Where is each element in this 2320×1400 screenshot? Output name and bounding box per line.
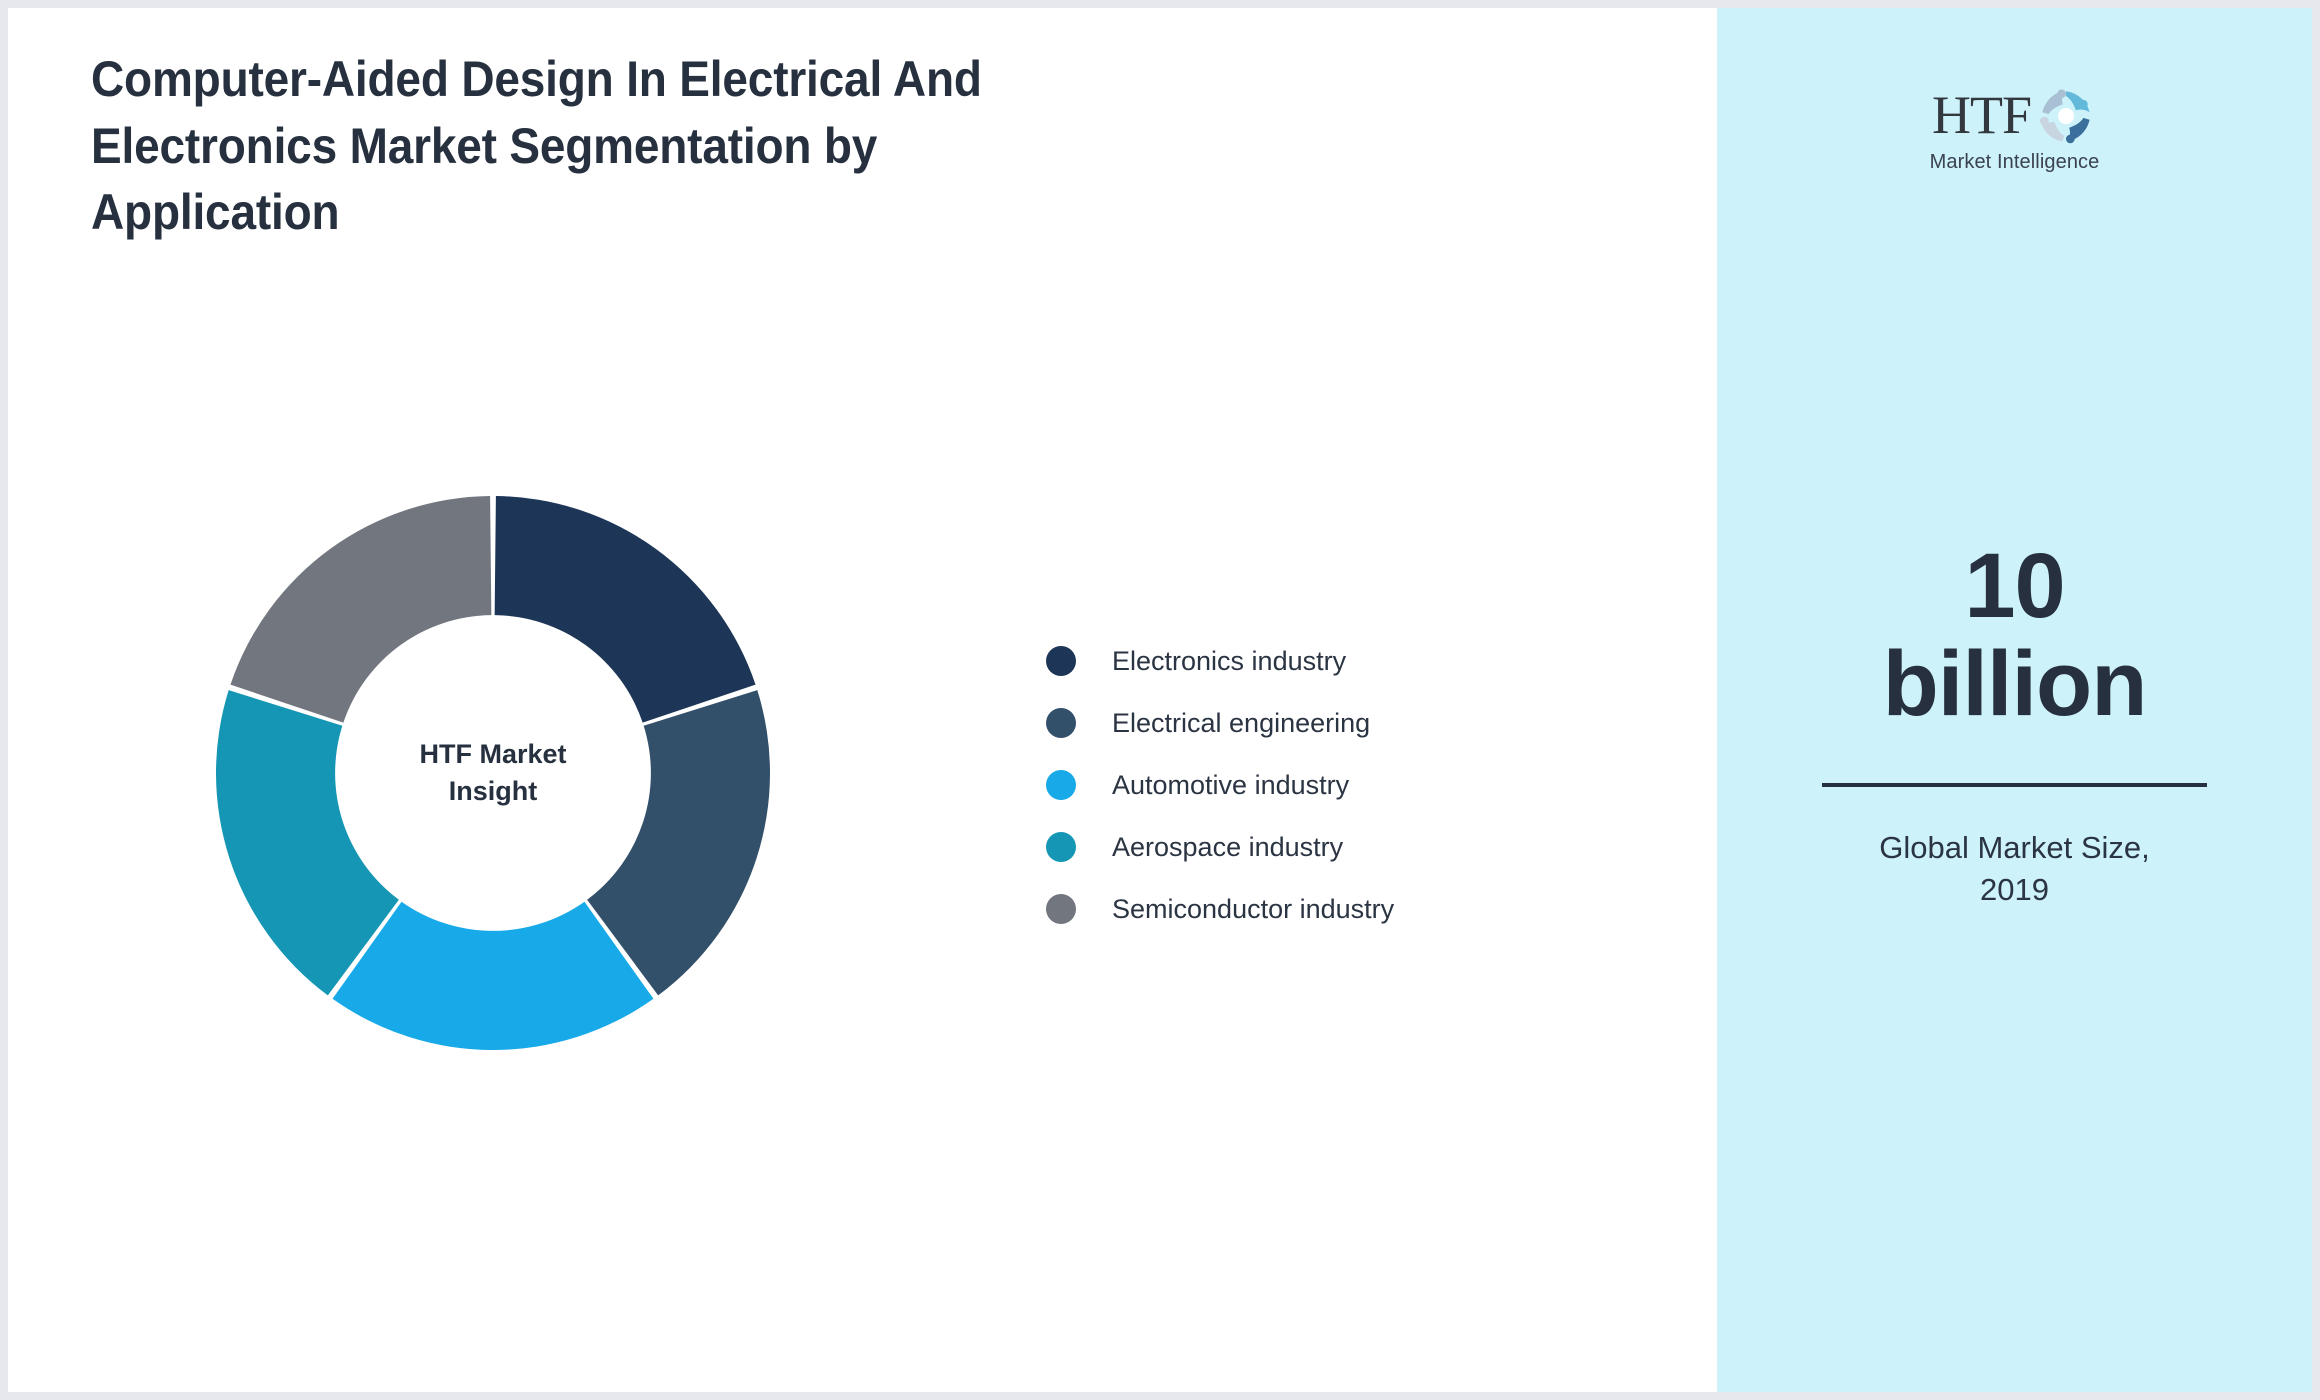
chart-legend: Electronics industryElectrical engineeri… [1046, 630, 1394, 940]
legend-swatch-icon [1046, 832, 1076, 862]
legend-item[interactable]: Aerospace industry [1046, 816, 1394, 878]
three-figure-circle-logo-icon [2035, 85, 2097, 147]
stat-caption: Global Market Size, 2019 [1775, 827, 2255, 911]
brand-logo: HTF Market Intelligence [1890, 83, 2140, 174]
legend-item-label: Automotive industry [1112, 770, 1349, 801]
stat-divider [1822, 783, 2207, 787]
brand-logo-row: HTF [1932, 83, 2097, 147]
stat-value: 10 billion [1775, 538, 2255, 733]
infographic-card: Computer-Aided Design In Electrical And … [8, 8, 2312, 1392]
donut-chart-svg [216, 496, 770, 1050]
page-title: Computer-Aided Design In Electrical And … [91, 46, 1011, 246]
brand-name: HTF [1932, 88, 2031, 142]
legend-item-label: Semiconductor industry [1112, 894, 1394, 925]
market-size-stat: 10 billion Global Market Size, 2019 [1775, 538, 2255, 911]
legend-item[interactable]: Semiconductor industry [1046, 878, 1394, 940]
legend-swatch-icon [1046, 894, 1076, 924]
main-panel: Computer-Aided Design In Electrical And … [8, 8, 1717, 1392]
brand-tagline: Market Intelligence [1930, 151, 2100, 174]
legend-swatch-icon [1046, 708, 1076, 738]
legend-item-label: Electronics industry [1112, 646, 1346, 677]
legend-item[interactable]: Electronics industry [1046, 630, 1394, 692]
donut-chart: HTF Market Insight [216, 496, 770, 1050]
stat-panel: HTF Market Intelligence 10 billion Globa [1717, 8, 2312, 1392]
donut-slice[interactable] [495, 496, 756, 723]
legend-swatch-icon [1046, 646, 1076, 676]
legend-swatch-icon [1046, 770, 1076, 800]
legend-item[interactable]: Automotive industry [1046, 754, 1394, 816]
legend-item[interactable]: Electrical engineering [1046, 692, 1394, 754]
legend-item-label: Electrical engineering [1112, 708, 1370, 739]
legend-item-label: Aerospace industry [1112, 832, 1343, 863]
donut-slice[interactable] [230, 496, 491, 723]
